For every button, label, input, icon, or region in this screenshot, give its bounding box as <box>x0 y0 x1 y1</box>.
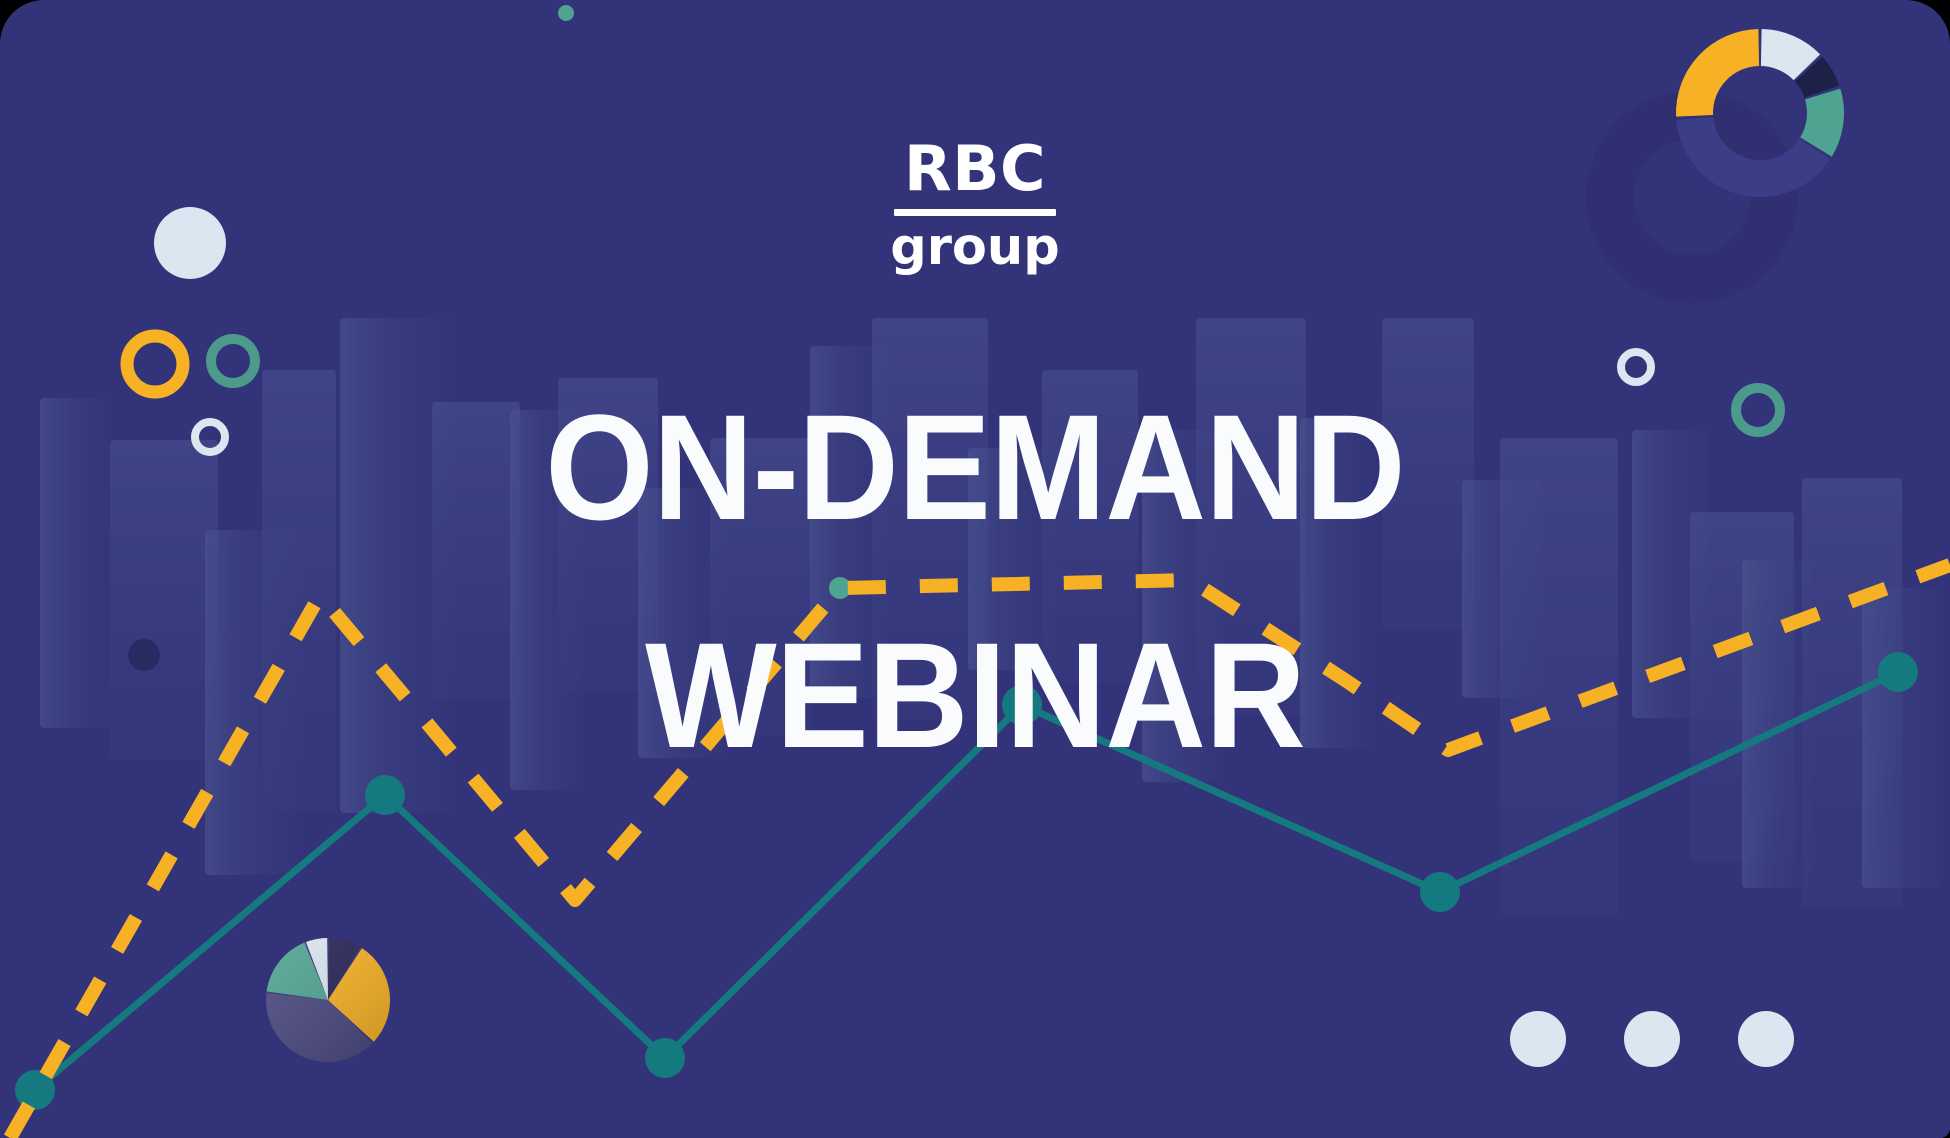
pie-shading-overlay <box>266 938 390 1062</box>
pie-slice-seg-yellow <box>1676 29 1759 117</box>
logo-secondary-text: group <box>0 222 1950 273</box>
webinar-banner: ON-DEMAND WEBINAR RBC group <box>0 0 1950 1138</box>
bottom-left-pie <box>266 938 390 1062</box>
logo-divider-rule <box>894 209 1056 216</box>
brand-logo: RBC group <box>0 138 1950 273</box>
logo-primary-text: RBC <box>0 138 1950 200</box>
